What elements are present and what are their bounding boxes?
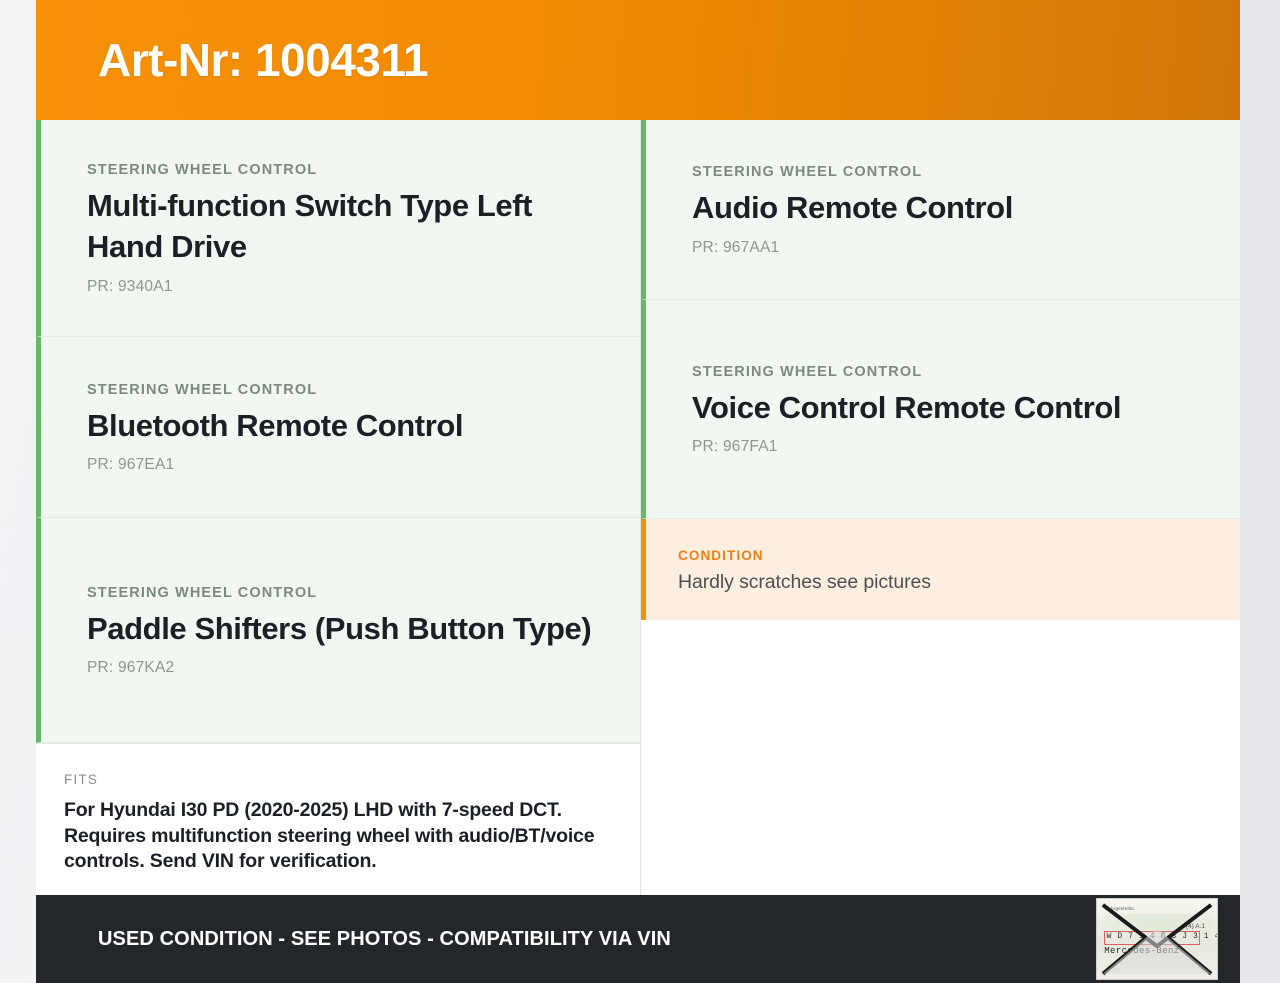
condition-label: CONDITION xyxy=(678,548,1206,563)
condition-text: Hardly scratches see pictures xyxy=(678,571,1206,594)
footer-bar: USED CONDITION - SEE PHOTOS - COMPATIBIL… xyxy=(36,895,1240,983)
spec-pr-code: PR: 9340A1 xyxy=(87,278,606,296)
spec-title: Paddle Shifters (Push Button Type) xyxy=(87,609,606,650)
spec-title: Voice Control Remote Control xyxy=(692,388,1206,429)
spec-grid: STEERING WHEEL CONTROL Multi-function Sw… xyxy=(36,120,1240,895)
spec-category-label: STEERING WHEEL CONTROL xyxy=(692,164,1206,180)
header-bar: Art-Nr: 1004311 xyxy=(36,0,1240,120)
broken-image-envelope-icon xyxy=(1097,899,1217,980)
spec-title: Audio Remote Control xyxy=(692,188,1206,229)
condition-section: CONDITION Hardly scratches see pictures xyxy=(641,519,1240,620)
spec-pr-code: PR: 967AA1 xyxy=(692,239,1206,257)
vin-document-thumbnail[interactable]: Fahrgestellnr. (4) A.1 W D 7 1 4 6 3 J 3… xyxy=(1096,898,1218,980)
spec-card: STEERING WHEEL CONTROL Paddle Shifters (… xyxy=(36,518,640,743)
spec-card: STEERING WHEEL CONTROL Bluetooth Remote … xyxy=(36,337,640,518)
spec-card: STEERING WHEEL CONTROL Voice Control Rem… xyxy=(641,300,1240,519)
spec-category-label: STEERING WHEEL CONTROL xyxy=(87,585,606,601)
footer-text: USED CONDITION - SEE PHOTOS - COMPATIBIL… xyxy=(98,928,671,951)
page-title: Art-Nr: 1004311 xyxy=(98,37,428,83)
spec-pr-code: PR: 967FA1 xyxy=(692,438,1206,456)
spec-column-left: STEERING WHEEL CONTROL Multi-function Sw… xyxy=(36,120,640,895)
listing-card: Art-Nr: 1004311 STEERING WHEEL CONTROL M… xyxy=(36,0,1240,978)
spec-title: Bluetooth Remote Control xyxy=(87,406,606,447)
fits-label: FITS xyxy=(64,772,606,787)
spec-column-right: STEERING WHEEL CONTROL Audio Remote Cont… xyxy=(640,120,1240,895)
spec-category-label: STEERING WHEEL CONTROL xyxy=(87,382,606,398)
spec-card: STEERING WHEEL CONTROL Audio Remote Cont… xyxy=(641,120,1240,300)
spec-category-label: STEERING WHEEL CONTROL xyxy=(692,364,1206,380)
empty-filler xyxy=(641,620,1240,895)
fits-text: For Hyundai I30 PD (2020-2025) LHD with … xyxy=(64,798,606,875)
spec-category-label: STEERING WHEEL CONTROL xyxy=(87,162,606,178)
spec-pr-code: PR: 967EA1 xyxy=(87,456,606,474)
spec-title: Multi-function Switch Type Left Hand Dri… xyxy=(87,186,606,268)
fits-section: FITS For Hyundai I30 PD (2020-2025) LHD … xyxy=(36,743,640,895)
spec-card: STEERING WHEEL CONTROL Multi-function Sw… xyxy=(36,120,640,337)
spec-pr-code: PR: 967KA2 xyxy=(87,659,606,677)
